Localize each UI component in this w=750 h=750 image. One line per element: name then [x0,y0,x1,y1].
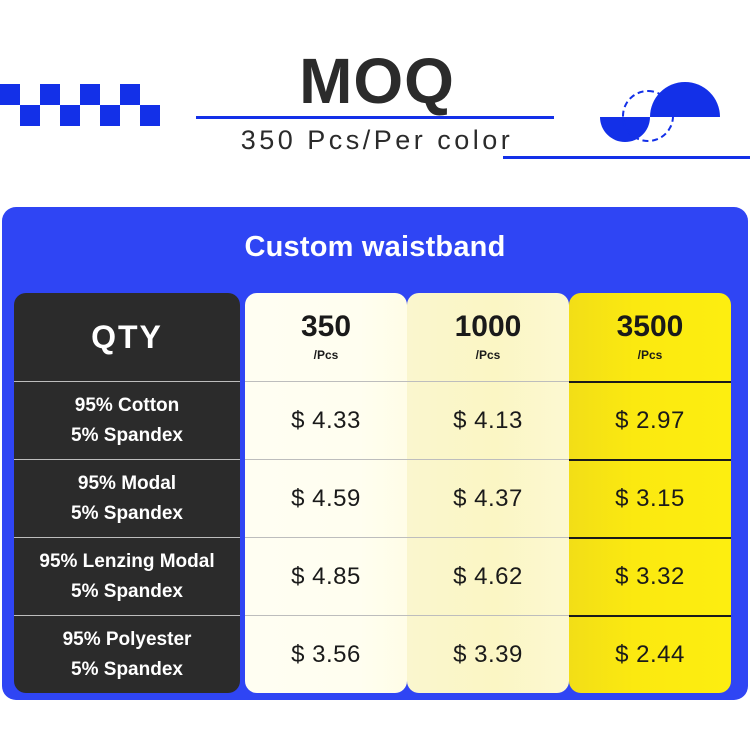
table-row: 95% Modal 5% Spandex [14,459,240,537]
moq-price-card: MOQ 350 Pcs/Per color Custom waistband Q… [0,0,750,750]
table-column-qty: QTY 95% Cotton 5% Spandex 95% Modal 5% S… [14,293,240,693]
table-cell-price: $ 4.85 [245,537,407,615]
half-circles-logo-icon [596,82,740,146]
table-cell-price: $ 4.33 [245,381,407,459]
checkerboard-icon [0,84,160,126]
table-column-1000: 1000 /Pcs $ 4.13 $ 4.37 $ 4.62 $ 3.39 [407,293,569,693]
header-right-divider [503,156,750,159]
table-cell-price: $ 3.15 [569,459,731,537]
table-cell-price: $ 3.56 [245,615,407,693]
panel-title: Custom waistband [2,231,748,264]
table-cell-price: $ 4.59 [245,459,407,537]
table-header-1000: 1000 /Pcs [407,293,569,381]
table-cell-price: $ 4.37 [407,459,569,537]
table-header-qty: QTY [14,293,240,381]
table-row: 95% Polyester 5% Spandex [14,615,240,693]
table-header-350: 350 /Pcs [245,293,407,381]
logo-upper-half-circle [650,82,720,117]
table-row: 95% Cotton 5% Spandex [14,381,240,459]
header: MOQ 350 Pcs/Per color [0,0,750,200]
table-column-350: 350 /Pcs $ 4.33 $ 4.59 $ 4.85 $ 3.56 [245,293,407,693]
title-block: MOQ 350 Pcs/Per color [196,48,558,158]
page-title: MOQ [196,48,558,114]
table-cell-price: $ 3.32 [569,537,731,615]
price-table: QTY 95% Cotton 5% Spandex 95% Modal 5% S… [14,293,736,693]
table-cell-price: $ 4.13 [407,381,569,459]
table-cell-price: $ 4.62 [407,537,569,615]
price-panel: Custom waistband QTY 95% Cotton 5% Spand… [2,207,748,700]
table-column-3500: 3500 /Pcs $ 2.97 $ 3.15 $ 3.32 $ 2.44 [569,293,731,693]
table-cell-price: $ 3.39 [407,615,569,693]
table-header-3500: 3500 /Pcs [569,293,731,381]
table-cell-price: $ 2.97 [569,381,731,459]
table-row: 95% Lenzing Modal 5% Spandex [14,537,240,615]
table-cell-price: $ 2.44 [569,615,731,693]
page-subtitle: 350 Pcs/Per color [196,119,558,158]
